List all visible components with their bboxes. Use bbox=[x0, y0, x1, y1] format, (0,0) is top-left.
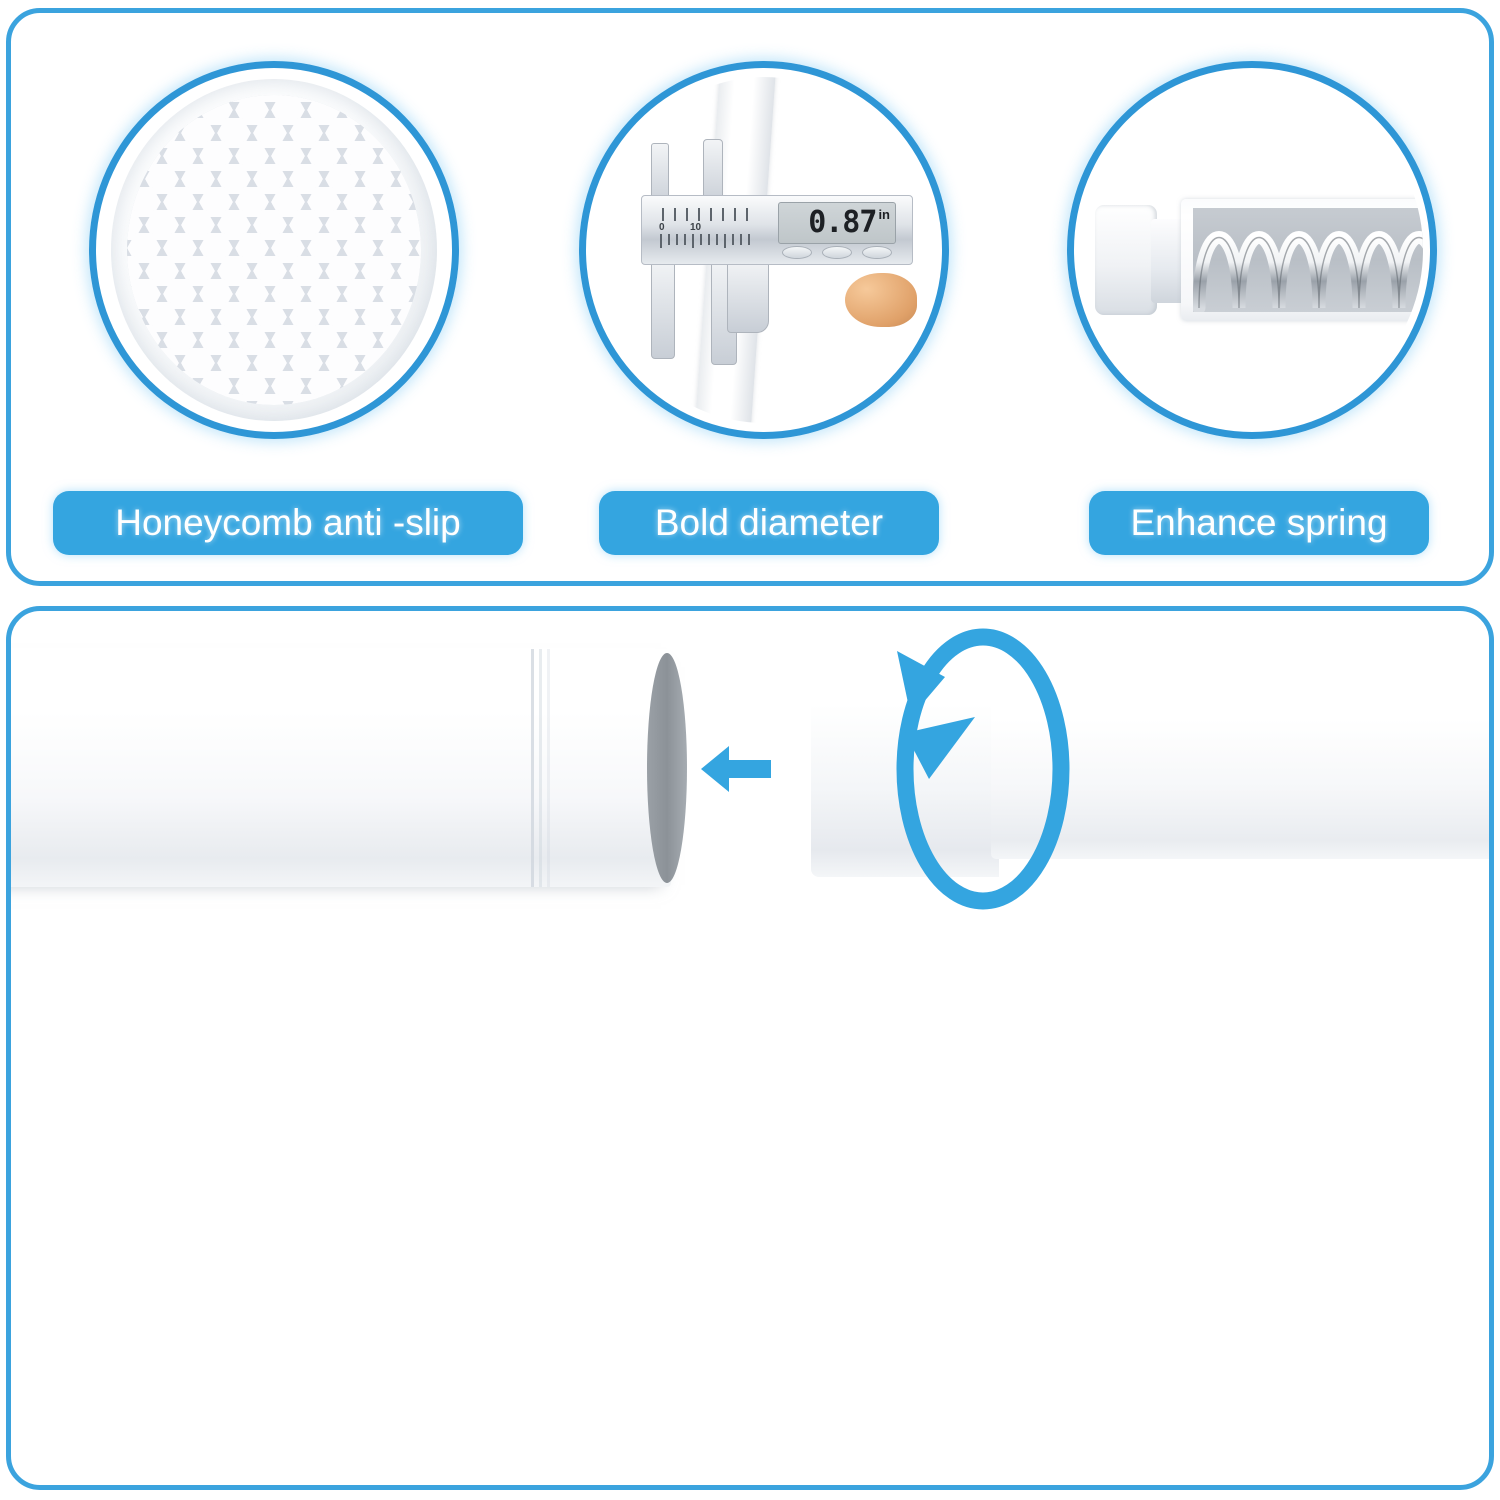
spring-circle bbox=[1067, 61, 1437, 439]
arrow-left-icon bbox=[701, 742, 771, 796]
circle-ring bbox=[89, 61, 459, 439]
badge-label: Honeycomb anti -slip bbox=[115, 502, 460, 544]
badge-bold-diameter[interactable]: Bold diameter bbox=[599, 491, 939, 555]
circle-ring bbox=[1067, 61, 1437, 439]
badge-enhance-spring[interactable]: Enhance spring bbox=[1089, 491, 1429, 555]
circle-ring bbox=[579, 61, 949, 439]
features-panel: 0 10 bbox=[6, 8, 1494, 586]
tube-section-left bbox=[11, 649, 671, 887]
splicing-stage: Splicing Design bbox=[11, 611, 1489, 1485]
rotate-circle-arrow-icon bbox=[871, 621, 1081, 911]
tube-end-face bbox=[647, 653, 687, 883]
infographic-root: 0 10 bbox=[0, 0, 1500, 1500]
badge-label: Bold diameter bbox=[655, 502, 883, 544]
badge-honeycomb-anti-slip[interactable]: Honeycomb anti -slip bbox=[53, 491, 523, 555]
splicing-panel: Splicing Design bbox=[6, 606, 1494, 1490]
honeycomb-circle bbox=[89, 61, 459, 439]
badge-label: Enhance spring bbox=[1130, 502, 1387, 544]
diameter-circle: 0 10 bbox=[579, 61, 949, 439]
